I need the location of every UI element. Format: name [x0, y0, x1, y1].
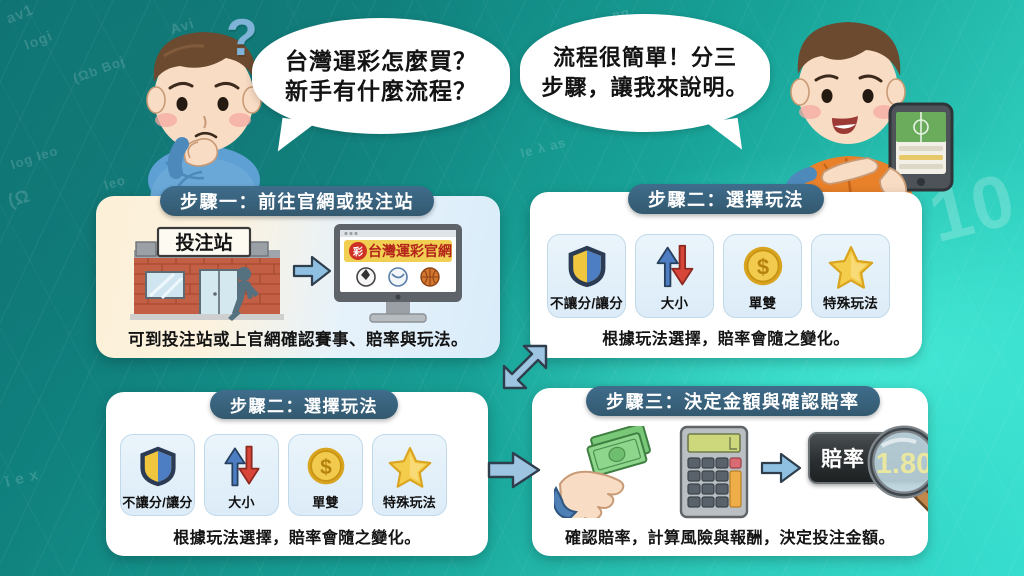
right-arrow-connector — [486, 448, 542, 492]
odds-label: 賠率 — [821, 443, 865, 473]
explaining-boy-character — [772, 8, 956, 204]
shield-icon — [137, 442, 179, 490]
betting-shop-illustration: 投注站 — [128, 224, 286, 324]
bubble-tail — [706, 118, 742, 154]
play-type-label: 大小 — [228, 492, 255, 511]
play-type-tile-group: 不讓分/讓分 大小 $ — [120, 434, 447, 516]
website-title-text: 台灣運彩官網 — [368, 243, 452, 259]
magnifying-glass-icon: 1.80 — [862, 418, 928, 518]
diagonal-double-arrow-connector — [488, 338, 554, 404]
play-type-tile-overunder[interactable]: 大小 — [635, 234, 714, 318]
play-type-tile-group: 不讓分/讓分 大小 $ — [547, 234, 890, 318]
infographic-canvas: av1 logi (Ωb Boj Avi log Ieo (Ω Ieo ĭ e … — [0, 0, 1024, 576]
bubble-line-2: 步驟，讓我來說明。 — [541, 73, 748, 103]
bubble-tail — [278, 118, 316, 156]
confused-boy-character — [120, 12, 288, 198]
flow-arrow-icon — [760, 450, 802, 486]
step-2-caption-repeat: 根據玩法選擇，賠率會隨之變化。 — [106, 524, 488, 548]
coin-icon: $ — [741, 242, 785, 290]
step-2-title-repeat: 步驟二：選擇玩法 — [210, 390, 398, 419]
shop-sign-text: 投注站 — [175, 231, 232, 254]
svg-text:$: $ — [320, 456, 332, 479]
step-2-caption: 根據玩法選擇，賠率會隨之變化。 — [530, 325, 922, 349]
flow-arrow-icon — [292, 254, 332, 288]
step-1-caption: 可到投注站或上官網確認賽事、賠率與玩法。 — [96, 326, 500, 350]
play-type-tile-oddeven[interactable]: $ 單雙 — [288, 434, 363, 516]
play-type-label: 大小 — [661, 292, 689, 312]
step-2-card: 不讓分/讓分 大小 $ — [530, 192, 922, 358]
shield-icon — [565, 242, 609, 290]
play-type-label: 特殊玩法 — [383, 492, 436, 511]
hand-with-cash-illustration — [554, 426, 674, 518]
play-type-label: 單雙 — [749, 292, 777, 312]
answer-speech-bubble: 流程很簡單！分三 步驟，讓我來說明。 — [520, 14, 770, 132]
official-website-monitor: 彩 台灣運彩官網 — [332, 222, 464, 326]
play-type-label: 不讓分/讓分 — [550, 292, 623, 312]
play-type-tile-overunder[interactable]: 大小 — [204, 434, 279, 516]
step-3-caption: 確認賠率，計算風險與報酬，決定投注金額。 — [532, 524, 928, 548]
play-type-tile-handicap[interactable]: 不讓分/讓分 — [547, 234, 626, 318]
up-down-arrows-icon — [220, 442, 264, 490]
step-3-title: 步驟三：決定金額與確認賠率 — [586, 386, 880, 416]
bubble-line-2: 新手有什麼流程？ — [285, 76, 477, 106]
question-speech-bubble: 台灣運彩怎麼買？ 新手有什麼流程？ — [252, 18, 510, 134]
step-1-title: 步驟一：前往官網或投注站 — [160, 186, 434, 216]
star-icon — [828, 242, 874, 290]
question-mark-icon: ? — [226, 8, 258, 68]
odds-value: 1.80 — [876, 448, 928, 480]
star-icon — [388, 442, 432, 490]
play-type-tile-special[interactable]: 特殊玩法 — [811, 234, 890, 318]
play-type-label: 不讓分/讓分 — [122, 492, 192, 511]
bubble-line-1: 流程很簡單！分三 — [553, 43, 737, 73]
svg-text:彩: 彩 — [352, 246, 363, 259]
play-type-tile-handicap[interactable]: 不讓分/讓分 — [120, 434, 195, 516]
bubble-line-1: 台灣運彩怎麼買？ — [285, 46, 477, 76]
step-2-title: 步驟二：選擇玩法 — [628, 184, 824, 214]
calculator-illustration — [678, 424, 750, 520]
play-type-tile-special[interactable]: 特殊玩法 — [372, 434, 447, 516]
play-type-tile-oddeven[interactable]: $ 單雙 — [723, 234, 802, 318]
play-type-label: 特殊玩法 — [823, 292, 878, 312]
step-1-card: 投注站 — [96, 196, 500, 358]
coin-icon: $ — [305, 442, 347, 490]
svg-text:$: $ — [756, 254, 768, 279]
play-type-label: 單雙 — [312, 492, 339, 511]
up-down-arrows-icon — [652, 242, 698, 290]
